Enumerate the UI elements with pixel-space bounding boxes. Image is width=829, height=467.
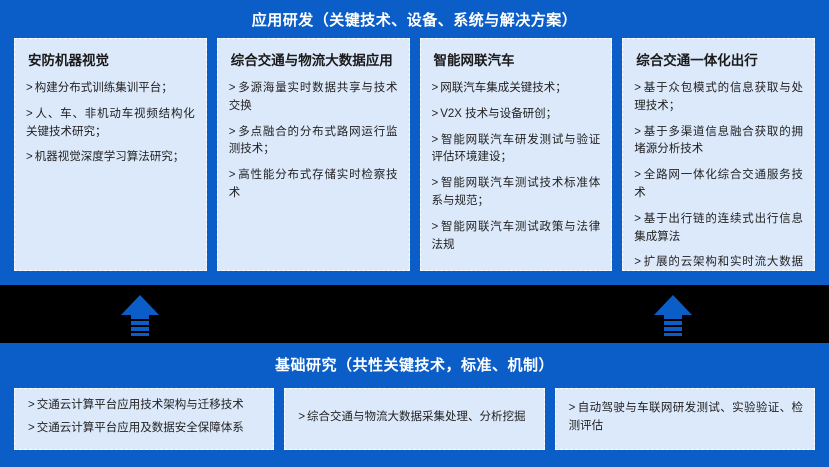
bullet-item: >智能网联汽车测试政策与法律法规	[432, 219, 601, 255]
bullet-text: 综合交通与物流大数据采集处理、分析挖掘	[307, 411, 526, 423]
bullet-list: >基于众包模式的信息获取与处理技术； >基于多渠道信息融合获取的拥堵源分析技术 …	[634, 80, 803, 271]
bullet-list: >综合交通与物流大数据采集处理、分析挖掘	[298, 409, 532, 432]
bullet-text: 交通云计算平台应用及数据安全保障体系	[37, 422, 244, 434]
bullet-text: 智能网联汽车测试政策与法律法规	[432, 221, 601, 251]
card-title: 综合交通一体化出行	[636, 53, 803, 70]
bullet-item: >扩展的云架构和实时流大数据平台	[634, 254, 803, 271]
card-title: 智能网联汽车	[434, 53, 601, 70]
bullet-marker-icon: >	[229, 169, 236, 181]
basic-research-section: 基础研究（共性关键技术，标准、机制） >交通云计算平台应用技术架构与迁移技术 >…	[0, 343, 829, 467]
bullet-marker-icon: >	[634, 169, 641, 181]
infographic-root: 应用研发（关键技术、设备、系统与解决方案） 安防机器视觉 >构建分布式训练集训平…	[0, 0, 829, 467]
up-arrow-icon	[652, 294, 694, 336]
bullet-text: 高性能分布式存储实时检察技术	[229, 169, 398, 199]
bullet-list: >网联汽车集成关键技术； >V2X 技术与设备研创； >智能网联汽车研发测试与验…	[432, 80, 601, 255]
bullet-marker-icon: >	[432, 177, 439, 189]
upper-card-row: 安防机器视觉 >构建分布式训练集训平台； >人、车、非机动车视频结构化关键技术研…	[14, 38, 815, 271]
up-arrow-icon	[119, 294, 161, 336]
bullet-item: >基于多渠道信息融合获取的拥堵源分析技术	[634, 124, 803, 160]
divider-band	[0, 285, 829, 343]
bullet-item: >多点融合的分布式路网运行监测技术；	[229, 124, 398, 160]
bullet-marker-icon: >	[26, 82, 33, 94]
bullet-text: 人、车、非机动车视频结构化关键技术研究；	[26, 108, 195, 138]
bullet-marker-icon: >	[634, 126, 641, 138]
bullet-marker-icon: >	[432, 82, 439, 94]
bullet-marker-icon: >	[229, 82, 236, 94]
bullet-text: 网联汽车集成关键技术；	[440, 82, 567, 94]
bullet-list: >构建分布式训练集训平台； >人、车、非机动车视频结构化关键技术研究； >机器视…	[26, 80, 195, 167]
card-autonomous-driving-testing[interactable]: >自动驾驶与车联网研发测试、实验验证、检测评估	[555, 388, 815, 450]
bullet-item: >人、车、非机动车视频结构化关键技术研究；	[26, 106, 195, 142]
card-security-machine-vision[interactable]: 安防机器视觉 >构建分布式训练集训平台； >人、车、非机动车视频结构化关键技术研…	[14, 38, 207, 271]
bullet-item: >网联汽车集成关键技术；	[432, 80, 601, 98]
bullet-marker-icon: >	[28, 422, 35, 434]
bullet-list: >自动驾驶与车联网研发测试、实验验证、检测评估	[569, 400, 803, 441]
bullet-item: >基于出行链的连续式出行信息集成算法	[634, 211, 803, 247]
bullet-item: >全路网一体化综合交通服务技术	[634, 167, 803, 203]
bullet-marker-icon: >	[28, 399, 35, 411]
card-bigdata-collection-analysis[interactable]: >综合交通与物流大数据采集处理、分析挖掘	[284, 388, 544, 450]
bullet-marker-icon: >	[634, 256, 641, 268]
bullet-item: >交通云计算平台应用及数据安全保障体系	[28, 420, 262, 438]
bullet-text: 基于众包模式的信息获取与处理技术；	[634, 82, 803, 112]
bullet-item: >多源海量实时数据共享与技术交换	[229, 80, 398, 116]
bullet-item: >智能网联汽车测试技术标准体系与规范；	[432, 175, 601, 211]
bullet-text: 全路网一体化综合交通服务技术	[634, 169, 803, 199]
bullet-list: >交通云计算平台应用技术架构与迁移技术 >交通云计算平台应用及数据安全保障体系	[28, 397, 262, 443]
bullet-item: >基于众包模式的信息获取与处理技术；	[634, 80, 803, 116]
bullet-text: 多源海量实时数据共享与技术交换	[229, 82, 398, 112]
card-title: 安防机器视觉	[28, 53, 195, 70]
lower-section-title: 基础研究（共性关键技术，标准、机制）	[0, 354, 829, 375]
bullet-text: 交通云计算平台应用技术架构与迁移技术	[37, 399, 244, 411]
card-transport-logistics-bigdata[interactable]: 综合交通与物流大数据应用 >多源海量实时数据共享与技术交换 >多点融合的分布式路…	[217, 38, 410, 271]
bullet-text: 多点融合的分布式路网运行监测技术；	[229, 126, 398, 156]
bullet-text: 构建分布式训练集训平台；	[35, 82, 173, 94]
application-rnd-section: 应用研发（关键技术、设备、系统与解决方案） 安防机器视觉 >构建分布式训练集训平…	[0, 0, 829, 285]
card-intelligent-connected-vehicle[interactable]: 智能网联汽车 >网联汽车集成关键技术； >V2X 技术与设备研创； >智能网联汽…	[420, 38, 613, 271]
bullet-marker-icon: >	[634, 82, 641, 94]
bullet-marker-icon: >	[229, 126, 236, 138]
bullet-marker-icon: >	[432, 108, 439, 120]
bullet-text: 基于多渠道信息融合获取的拥堵源分析技术	[634, 126, 803, 156]
bullet-item: >机器视觉深度学习算法研究；	[26, 149, 195, 167]
bullet-text: 自动驾驶与车联网研发测试、实验验证、检测评估	[569, 402, 803, 432]
lower-card-row: >交通云计算平台应用技术架构与迁移技术 >交通云计算平台应用及数据安全保障体系 …	[14, 388, 815, 450]
card-integrated-transport-mobility[interactable]: 综合交通一体化出行 >基于众包模式的信息获取与处理技术； >基于多渠道信息融合获…	[622, 38, 815, 271]
upper-section-title: 应用研发（关键技术、设备、系统与解决方案）	[0, 9, 829, 30]
bullet-text: 扩展的云架构和实时流大数据平台	[634, 256, 803, 271]
bullet-marker-icon: >	[432, 134, 439, 146]
bullet-marker-icon: >	[432, 221, 439, 233]
card-transport-cloud-platform[interactable]: >交通云计算平台应用技术架构与迁移技术 >交通云计算平台应用及数据安全保障体系	[14, 388, 274, 450]
bullet-item: >构建分布式训练集训平台；	[26, 80, 195, 98]
bullet-text: 基于出行链的连续式出行信息集成算法	[634, 213, 803, 243]
bullet-marker-icon: >	[26, 151, 33, 163]
bullet-item: >自动驾驶与车联网研发测试、实验验证、检测评估	[569, 400, 803, 436]
bullet-list: >多源海量实时数据共享与技术交换 >多点融合的分布式路网运行监测技术； >高性能…	[229, 80, 398, 203]
bullet-item: >V2X 技术与设备研创；	[432, 106, 601, 124]
bullet-marker-icon: >	[298, 411, 305, 423]
bullet-text: V2X 技术与设备研创；	[440, 108, 557, 120]
bullet-marker-icon: >	[26, 108, 33, 120]
bullet-item: >智能网联汽车研发测试与验证评估环境建设；	[432, 132, 601, 168]
bullet-text: 智能网联汽车测试技术标准体系与规范；	[432, 177, 601, 207]
bullet-item: >高性能分布式存储实时检察技术	[229, 167, 398, 203]
bullet-text: 机器视觉深度学习算法研究；	[35, 151, 185, 163]
card-title: 综合交通与物流大数据应用	[231, 53, 398, 70]
bullet-marker-icon: >	[569, 402, 576, 414]
bullet-item: >综合交通与物流大数据采集处理、分析挖掘	[298, 409, 532, 427]
bullet-text: 智能网联汽车研发测试与验证评估环境建设；	[432, 134, 601, 164]
bullet-marker-icon: >	[634, 213, 641, 225]
bullet-item: >交通云计算平台应用技术架构与迁移技术	[28, 397, 262, 415]
